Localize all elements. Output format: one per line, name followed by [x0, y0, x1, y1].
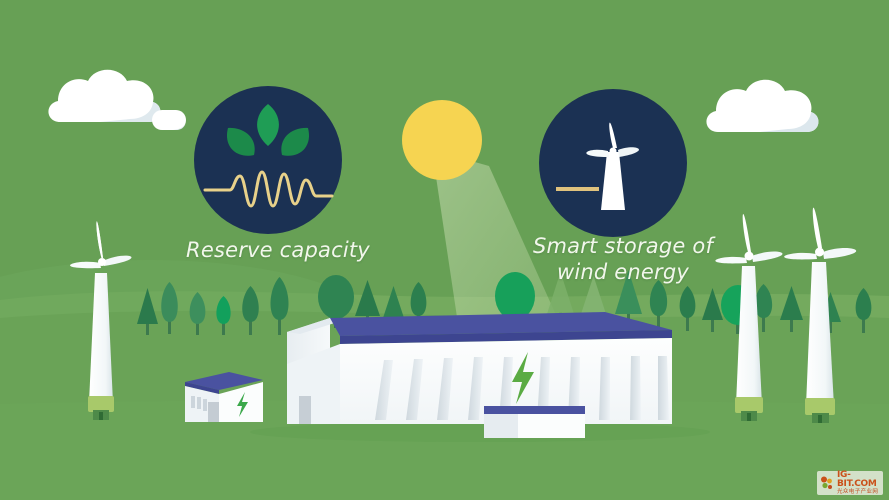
watermark-title: IG-BIT.COM	[837, 471, 880, 489]
badge-label-line-1: Smart storage of	[533, 234, 713, 258]
watermark-logo-icon	[820, 475, 834, 491]
illustration-canvas: Reserve capacity Smart storage of wind e…	[0, 0, 889, 500]
watermark-subtitle: 光众电子产业网	[837, 490, 880, 496]
badge-reserve-capacity[interactable]	[194, 86, 342, 234]
turbine-hub	[610, 148, 617, 155]
badge-label-reserve-capacity: Reserve capacity	[170, 237, 386, 263]
badge-label-smart-storage: Smart storage of wind energy	[505, 233, 741, 285]
badge-smart-storage[interactable]	[539, 89, 687, 237]
badges-layer	[0, 0, 889, 500]
badge-label-line-2: wind energy	[557, 260, 689, 284]
site-watermark: IG-BIT.COM 光众电子产业网	[817, 471, 883, 495]
